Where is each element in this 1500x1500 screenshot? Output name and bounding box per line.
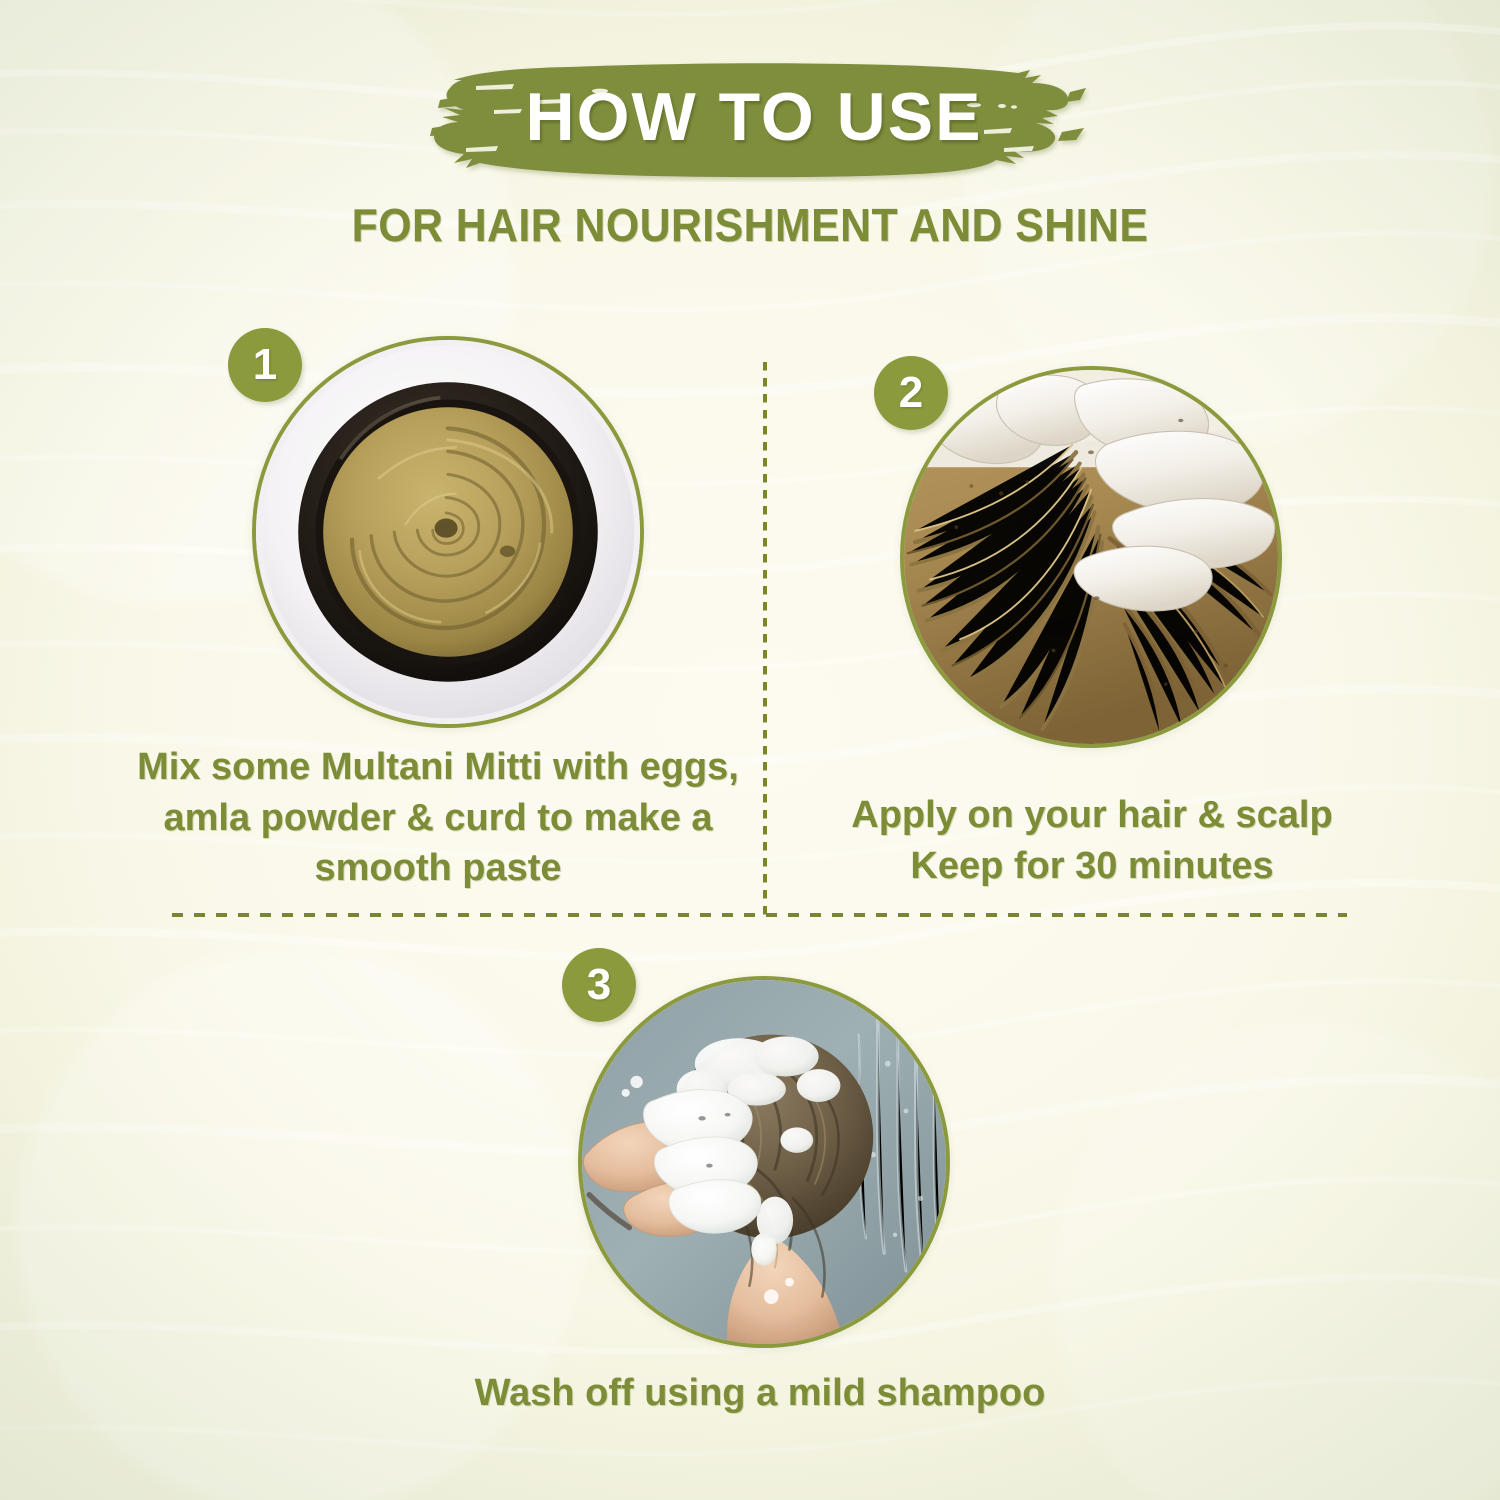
step-3-caption: Wash off using a mild shampoo [470,1368,1050,1419]
step-1-number-badge: 1 [228,328,302,402]
step-3-number-badge: 3 [562,948,636,1022]
step-3-image-circle [578,976,950,1348]
woman-washing-hair-with-shampoo-image [582,980,946,1344]
vertical-dashed-divider [763,362,767,918]
page-title: HOW TO USE [418,56,1090,182]
gloved-hands-applying-paste-to-hair-image [904,370,1278,744]
step-2-caption: Apply on your hair & scalp Keep for 30 m… [800,790,1384,891]
header: HOW TO USE FOR HAIR NOURISHMENT AND SHIN… [0,0,1500,270]
step-2-image-circle [900,366,1282,748]
step-1-image-circle [252,336,644,728]
horizontal-dashed-divider [172,913,1347,917]
step-1-caption: Mix some Multani Mitti with eggs, amla p… [118,742,758,894]
bowl-of-multani-mitti-paste-image [256,340,640,724]
page-subtitle: FOR HAIR NOURISHMENT AND SHINE [53,198,1448,252]
step-2-number-badge: 2 [874,356,948,430]
